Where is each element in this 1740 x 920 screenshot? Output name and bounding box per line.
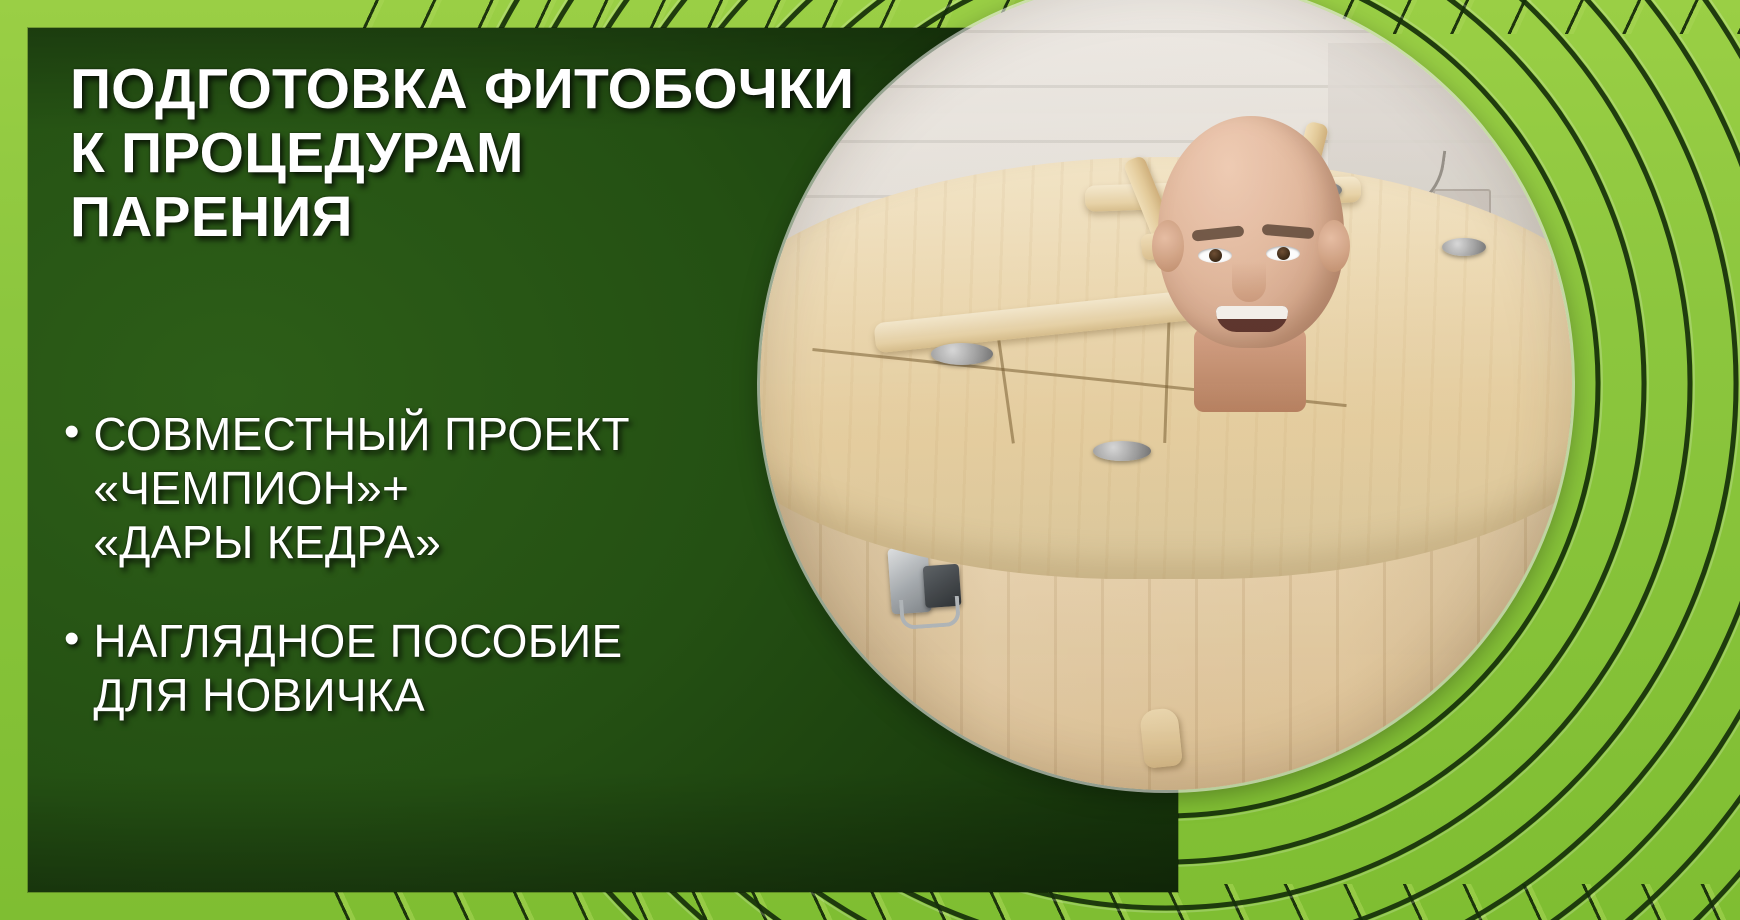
person-head — [1158, 116, 1344, 348]
bullet-dot-icon: • — [64, 615, 79, 663]
person-eyebrow-left — [1191, 225, 1244, 241]
bullet-dot-icon: • — [64, 408, 79, 456]
person-in-barrel — [1150, 116, 1380, 416]
person-ear-left — [1152, 220, 1184, 272]
bullet-1-line-1: СОВМЕСТНЫЙ ПРОЕКТ — [93, 408, 629, 462]
list-item: • СОВМЕСТНЫЙ ПРОЕКТ «ЧЕМПИОН»+ «ДАРЫ КЕД… — [64, 408, 904, 569]
bullet-2-line-1: НАГЛЯДНОЕ ПОСОБИЕ — [93, 615, 622, 669]
latch-hook — [899, 596, 961, 630]
person-eye-right — [1266, 246, 1300, 261]
thumbnail-canvas: ПОДГОТОВКА ФИТОБОЧКИ К ПРОЦЕДУРАМ ПАРЕНИ… — [0, 0, 1740, 920]
person-teeth — [1216, 306, 1288, 319]
bullet-1-line-3: «ДАРЫ КЕДРА» — [93, 516, 629, 570]
person-eye-left — [1198, 248, 1232, 263]
lid-hinge-disc — [1442, 238, 1486, 256]
headline-line-3: ПАРЕНИЯ — [70, 186, 950, 250]
bullet-text: СОВМЕСТНЫЙ ПРОЕКТ «ЧЕМПИОН»+ «ДАРЫ КЕДРА… — [93, 408, 629, 569]
bullet-2-line-2: ДЛЯ НОВИЧКА — [93, 669, 622, 723]
barrel-wooden-peg — [1139, 707, 1183, 769]
lid-hinge-disc — [1093, 441, 1151, 461]
bullet-list: • СОВМЕСТНЫЙ ПРОЕКТ «ЧЕМПИОН»+ «ДАРЫ КЕД… — [64, 408, 904, 769]
person-mouth — [1216, 306, 1288, 332]
bullet-1-line-2: «ЧЕМПИОН»+ — [93, 462, 629, 516]
headline-line-2: К ПРОЦЕДУРАМ — [70, 122, 950, 186]
list-item: • НАГЛЯДНОЕ ПОСОБИЕ ДЛЯ НОВИЧКА — [64, 615, 904, 723]
person-nose — [1232, 262, 1266, 302]
headline-line-1: ПОДГОТОВКА ФИТОБОЧКИ — [70, 58, 950, 122]
person-ear-right — [1318, 220, 1350, 272]
bullet-text: НАГЛЯДНОЕ ПОСОБИЕ ДЛЯ НОВИЧКА — [93, 615, 622, 723]
person-eyebrow-right — [1261, 224, 1314, 239]
page-title: ПОДГОТОВКА ФИТОБОЧКИ К ПРОЦЕДУРАМ ПАРЕНИ… — [70, 58, 950, 249]
